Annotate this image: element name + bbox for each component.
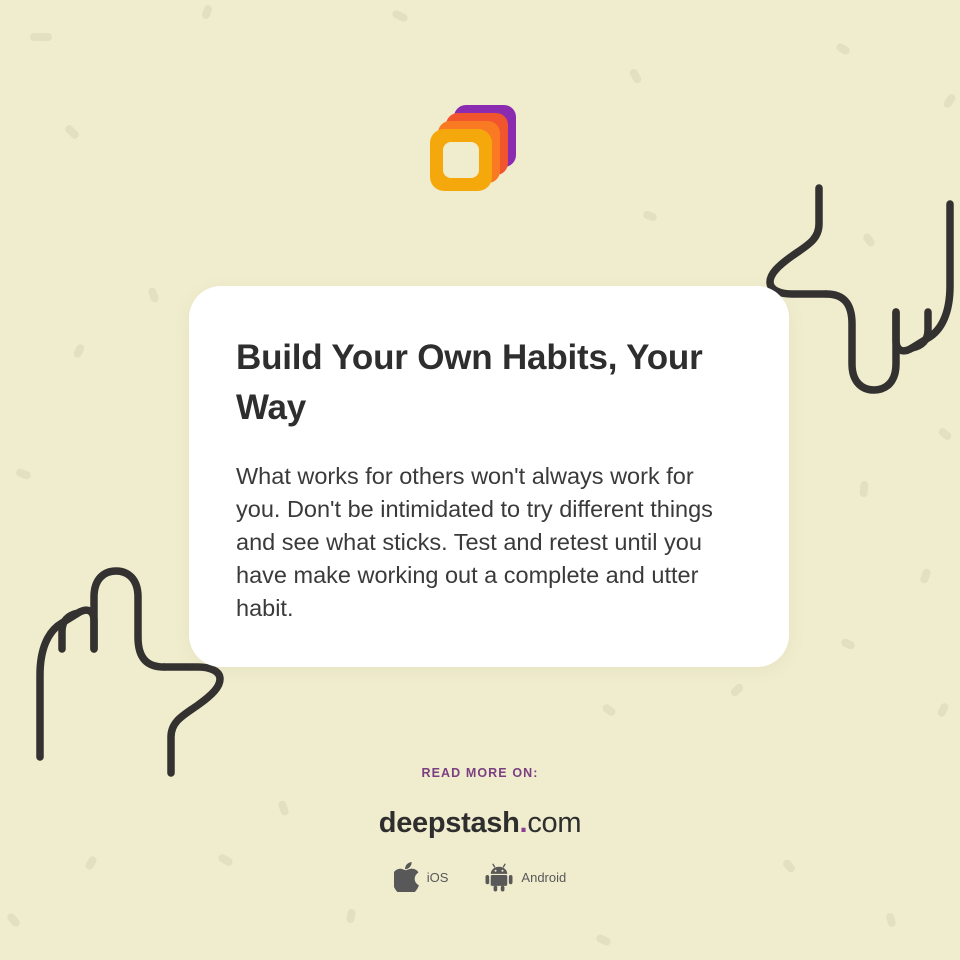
quote-card: Build Your Own Habits, Your Way What wor… <box>189 286 789 667</box>
brand-name-text: deepstash <box>379 807 520 839</box>
confetti-speck <box>346 908 356 923</box>
confetti-speck <box>919 568 932 585</box>
confetti-speck <box>885 912 896 928</box>
confetti-speck <box>729 682 745 698</box>
android-label: Android <box>521 870 566 885</box>
confetti-speck <box>595 933 612 947</box>
footer: READ MORE ON: deepstash.com iOS <box>0 766 960 892</box>
confetti-speck <box>391 9 409 23</box>
confetti-speck <box>72 343 85 359</box>
confetti-speck <box>937 426 953 441</box>
read-more-label: READ MORE ON: <box>0 766 960 780</box>
apple-icon <box>394 862 420 892</box>
confetti-speck <box>840 637 856 650</box>
confetti-speck <box>859 481 868 498</box>
confetti-speck <box>201 4 213 20</box>
card-title: Build Your Own Habits, Your Way <box>236 333 733 433</box>
confetti-speck <box>6 912 22 929</box>
android-icon <box>484 862 514 892</box>
confetti-speck <box>64 124 81 141</box>
confetti-speck <box>15 468 32 481</box>
pointing-hand-down-icon <box>762 178 960 398</box>
android-badge[interactable]: Android <box>484 862 566 892</box>
brand-tld-text: com <box>527 807 581 839</box>
logo-inner-cutout <box>443 142 479 178</box>
confetti-speck <box>601 703 617 718</box>
store-badges: iOS And <box>0 862 960 892</box>
confetti-speck <box>942 93 957 110</box>
confetti-speck <box>835 42 851 56</box>
poster-canvas: Build Your Own Habits, Your Way What wor… <box>0 0 960 960</box>
confetti-speck <box>936 702 949 718</box>
confetti-speck <box>147 287 160 304</box>
confetti-speck <box>628 68 642 85</box>
confetti-speck <box>30 33 52 41</box>
brand-wordmark[interactable]: deepstash.com <box>0 807 960 840</box>
card-body-text: What works for others won't always work … <box>236 460 733 625</box>
deepstash-logo-icon <box>430 105 516 191</box>
confetti-speck <box>862 232 877 248</box>
ios-label: iOS <box>427 870 449 885</box>
confetti-speck <box>642 210 658 222</box>
ios-badge[interactable]: iOS <box>394 862 449 892</box>
